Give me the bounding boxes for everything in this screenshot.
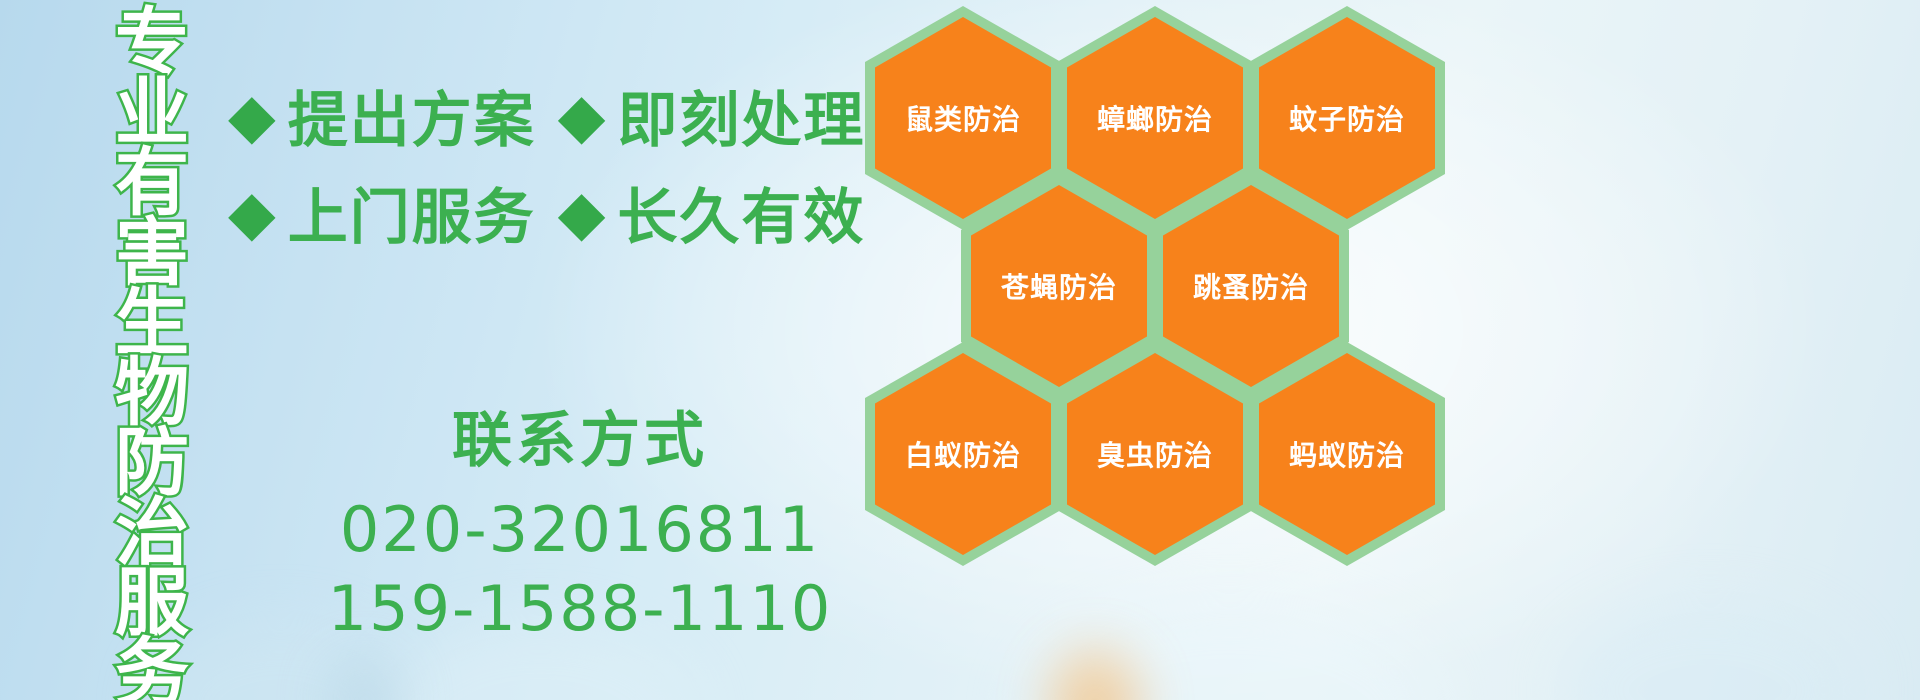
background-blob: [1560, 600, 1860, 700]
contact-block: 联系方式 020-32016811 159-1588-1110: [300, 392, 860, 651]
vertical-title-char: 生: [115, 288, 189, 358]
feature-label: 提出方案: [288, 72, 536, 159]
feature-row: ◆ 上门服务 ◆ 长久有效: [228, 169, 868, 256]
vertical-title-char: 务: [115, 638, 189, 700]
service-label: 蚂蚁防治: [1289, 434, 1405, 474]
contact-heading: 联系方式: [300, 392, 860, 479]
feature-label: 即刻处理: [617, 72, 865, 159]
service-label: 臭虫防治: [1097, 434, 1213, 474]
hexagon-inner: 苍蝇防治: [971, 185, 1147, 387]
background-blob: [330, 660, 400, 700]
vertical-title-char: 防: [115, 428, 189, 498]
hexagon-inner: 跳蚤防治: [1163, 185, 1339, 387]
feature-item-onsite: ◆ 上门服务: [228, 169, 536, 256]
service-label: 跳蚤防治: [1193, 266, 1309, 306]
vertical-title-char: 专: [115, 8, 189, 78]
vertical-title-char: 害: [115, 218, 189, 288]
service-label: 蟑螂防治: [1097, 98, 1213, 138]
diamond-bullet-icon: ◆: [228, 85, 276, 147]
phone-number-mobile[interactable]: 159-1588-1110: [300, 572, 860, 645]
feature-row: ◆ 提出方案 ◆ 即刻处理: [228, 72, 868, 159]
diamond-bullet-icon: ◆: [228, 182, 276, 244]
service-hexagon-grid: 鼠类防治 蟑螂防治 蚊子防治 苍蝇防治 跳蚤防治 白蚁防治: [855, 0, 1475, 700]
feature-label: 长久有效: [617, 169, 865, 256]
feature-item-immediate: ◆ 即刻处理: [558, 72, 866, 159]
service-label: 鼠类防治: [905, 98, 1021, 138]
hexagon-inner: 蚂蚁防治: [1259, 353, 1435, 555]
service-label: 蚊子防治: [1289, 98, 1405, 138]
phone-number-landline[interactable]: 020-32016811: [300, 493, 860, 566]
feature-item-proposal: ◆ 提出方案: [228, 72, 536, 159]
vertical-title-char: 有: [115, 148, 189, 218]
service-label: 白蚁防治: [905, 434, 1021, 474]
pest-control-banner: 专 业 有 害 生 物 防 治 服 务 ◆ 提出方案 ◆ 即刻处理 ◆ 上门服务: [0, 0, 1920, 700]
vertical-title-char: 服: [115, 568, 189, 638]
hexagon-inner: 蚊子防治: [1259, 17, 1435, 219]
hexagon-inner: 臭虫防治: [1067, 353, 1243, 555]
feature-label: 上门服务: [288, 169, 536, 256]
feature-list: ◆ 提出方案 ◆ 即刻处理 ◆ 上门服务 ◆ 长久有效: [228, 72, 868, 266]
vertical-title-char: 治: [115, 498, 189, 568]
service-label: 苍蝇防治: [1001, 266, 1117, 306]
hexagon-inner: 白蚁防治: [875, 353, 1051, 555]
diamond-bullet-icon: ◆: [558, 182, 606, 244]
diamond-bullet-icon: ◆: [558, 85, 606, 147]
vertical-title-char: 物: [115, 358, 189, 428]
feature-item-longlasting: ◆ 长久有效: [558, 169, 866, 256]
vertical-title: 专 业 有 害 生 物 防 治 服 务: [104, 8, 200, 700]
hexagon-inner: 蟑螂防治: [1067, 17, 1243, 219]
vertical-title-char: 业: [115, 78, 189, 148]
hexagon-inner: 鼠类防治: [875, 17, 1051, 219]
